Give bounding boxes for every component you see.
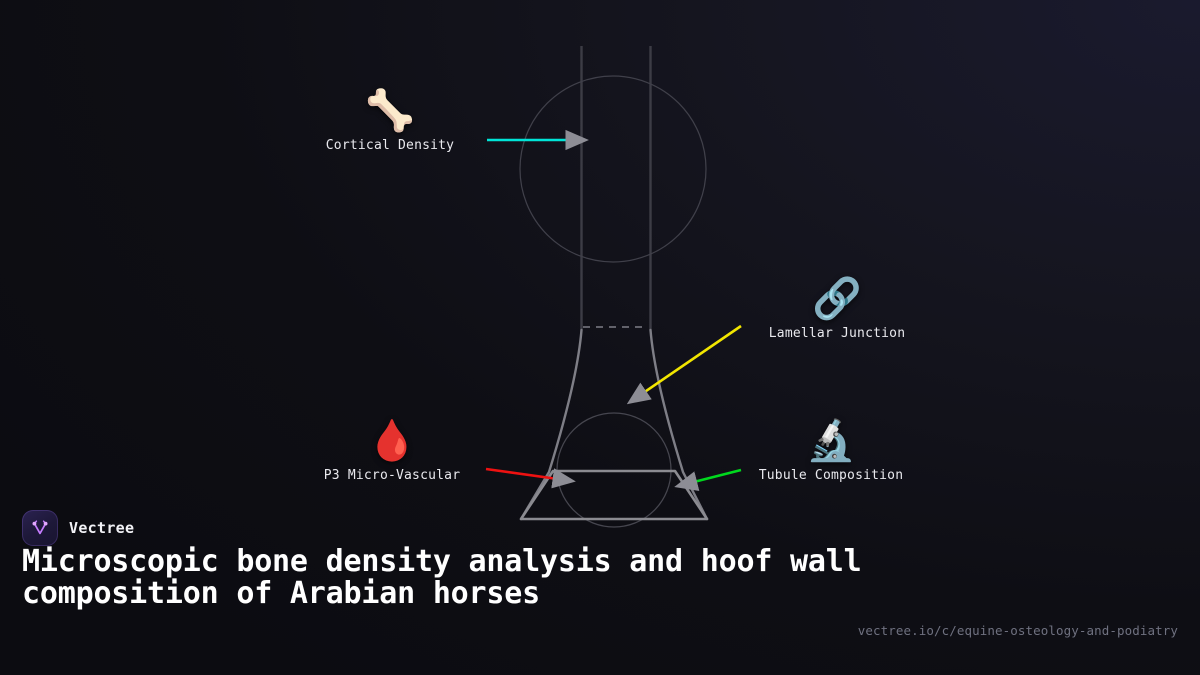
microscope-emoji: 🔬 xyxy=(721,418,941,464)
annotation-tubule-composition[interactable]: 🔬 Tubule Composition xyxy=(721,418,941,483)
annotation-label: Lamellar Junction xyxy=(727,326,947,341)
pastern-flare-right xyxy=(651,330,708,519)
annotation-label: Tubule Composition xyxy=(721,468,941,483)
blood-drop-emoji: 🩸 xyxy=(282,418,502,464)
annotation-p3-micro-vascular[interactable]: 🩸 P3 Micro-Vascular xyxy=(282,418,502,483)
vectree-logo-mark xyxy=(22,510,58,546)
annotation-lamellar-junction[interactable]: 🔗 Lamellar Junction xyxy=(727,276,947,341)
annotation-cortical-density[interactable]: 🦴 Cortical Density xyxy=(280,88,500,153)
brand-row[interactable]: Vectree xyxy=(22,510,134,546)
pastern-flare-left xyxy=(521,330,582,519)
permalink-url: vectree.io/c/equine-osteology-and-podiat… xyxy=(858,623,1178,638)
annotation-label: Cortical Density xyxy=(280,138,500,153)
upper-study-circle xyxy=(520,76,706,262)
slide-canvas: 🦴 Cortical Density 🔗 Lamellar Junction 🩸… xyxy=(0,0,1200,675)
arrow-lamellar-junction xyxy=(630,326,741,402)
page-title: Microscopic bone density analysis and ho… xyxy=(22,546,862,610)
brand-name: Vectree xyxy=(69,519,134,537)
link-emoji: 🔗 xyxy=(727,276,947,322)
annotation-label: P3 Micro-Vascular xyxy=(282,468,502,483)
bone-emoji: 🦴 xyxy=(280,88,500,134)
vectree-v-branch-icon xyxy=(29,517,51,539)
